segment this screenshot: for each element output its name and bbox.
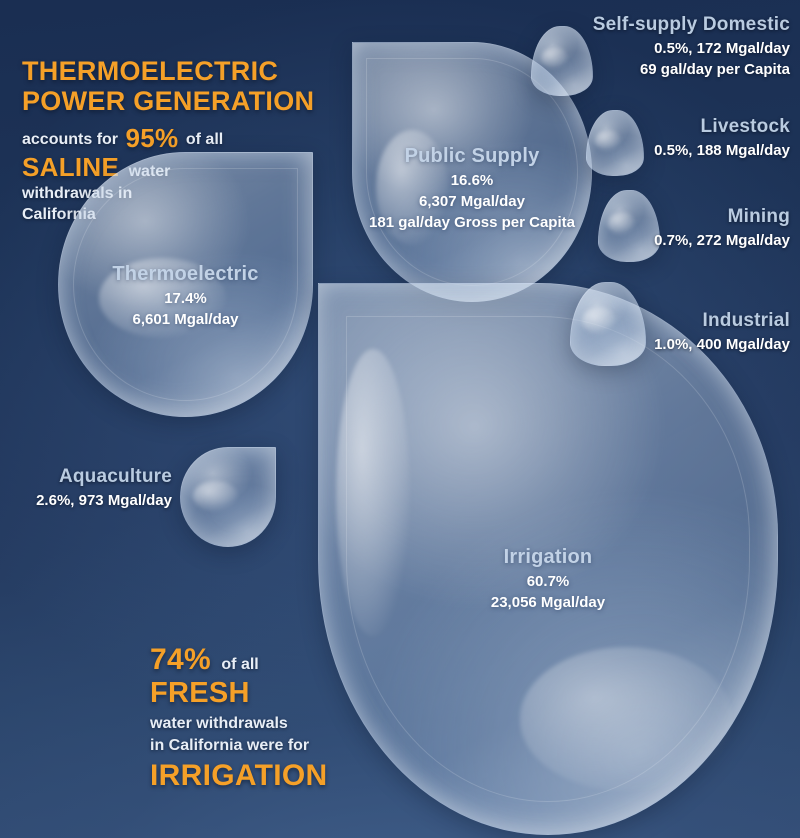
droplet-aquaculture: [180, 447, 276, 547]
callout-fresh-percent: 74%: [150, 643, 211, 676]
label-self-supply-domestic-name: Self-supply Domestic: [490, 14, 790, 36]
callout-fresh-big2: IRRIGATION: [150, 761, 380, 792]
label-thermoelectric-name: Thermoelectric: [58, 263, 313, 286]
label-irrigation-name: Irrigation: [368, 546, 728, 569]
label-industrial-name: Industrial: [550, 310, 790, 332]
callout-saline-percent: 95%: [125, 123, 178, 153]
callout-saline-line2: POWER GENERATION: [22, 88, 322, 116]
label-livestock: Livestock 0.5%, 188 Mgal/day: [540, 116, 790, 159]
callout-saline-pre: accounts for: [22, 131, 118, 148]
callout-saline-post: of all: [186, 131, 223, 148]
label-irrigation-volume: 23,056 Mgal/day: [368, 594, 728, 611]
callout-fresh: 74% of all FRESH water withdrawals in Ca…: [150, 645, 380, 792]
callout-fresh-line2: in California were for: [150, 737, 380, 755]
callout-fresh-post: of all: [221, 656, 258, 673]
callout-fresh-line1: water withdrawals: [150, 715, 380, 733]
label-thermoelectric-volume: 6,601 Mgal/day: [58, 311, 313, 328]
callout-fresh-big: FRESH: [150, 679, 380, 709]
label-industrial: Industrial 1.0%, 400 Mgal/day: [550, 310, 790, 353]
infographic-canvas: THERMOELECTRIC POWER GENERATION accounts…: [0, 0, 800, 838]
label-irrigation-percent: 60.7%: [368, 573, 728, 590]
label-self-supply-domestic-extra: 69 gal/day per Capita: [490, 61, 790, 78]
label-livestock-stat: 0.5%, 188 Mgal/day: [540, 142, 790, 159]
label-thermoelectric-percent: 17.4%: [58, 290, 313, 307]
callout-saline-body: accounts for 95% of all: [22, 125, 322, 152]
label-mining: Mining 0.7%, 272 Mgal/day: [560, 206, 790, 249]
label-livestock-name: Livestock: [540, 116, 790, 138]
label-irrigation: Irrigation 60.7% 23,056 Mgal/day: [368, 546, 728, 611]
droplet-aquaculture-shape: [180, 447, 276, 547]
callout-saline-line1: THERMOELECTRIC: [22, 58, 322, 86]
label-mining-stat: 0.7%, 272 Mgal/day: [560, 232, 790, 249]
label-aquaculture-name: Aquaculture: [0, 466, 172, 488]
label-self-supply-domestic-stat: 0.5%, 172 Mgal/day: [490, 40, 790, 57]
label-thermoelectric: Thermoelectric 17.4% 6,601 Mgal/day: [58, 263, 313, 328]
label-industrial-stat: 1.0%, 400 Mgal/day: [550, 336, 790, 353]
label-public-supply-percent: 16.6%: [332, 172, 612, 189]
label-aquaculture: Aquaculture 2.6%, 973 Mgal/day: [0, 466, 172, 509]
callout-fresh-row1: 74% of all: [150, 645, 380, 676]
label-aquaculture-stat: 2.6%, 973 Mgal/day: [0, 492, 172, 509]
label-mining-name: Mining: [560, 206, 790, 228]
label-self-supply-domestic: Self-supply Domestic 0.5%, 172 Mgal/day …: [490, 14, 790, 78]
